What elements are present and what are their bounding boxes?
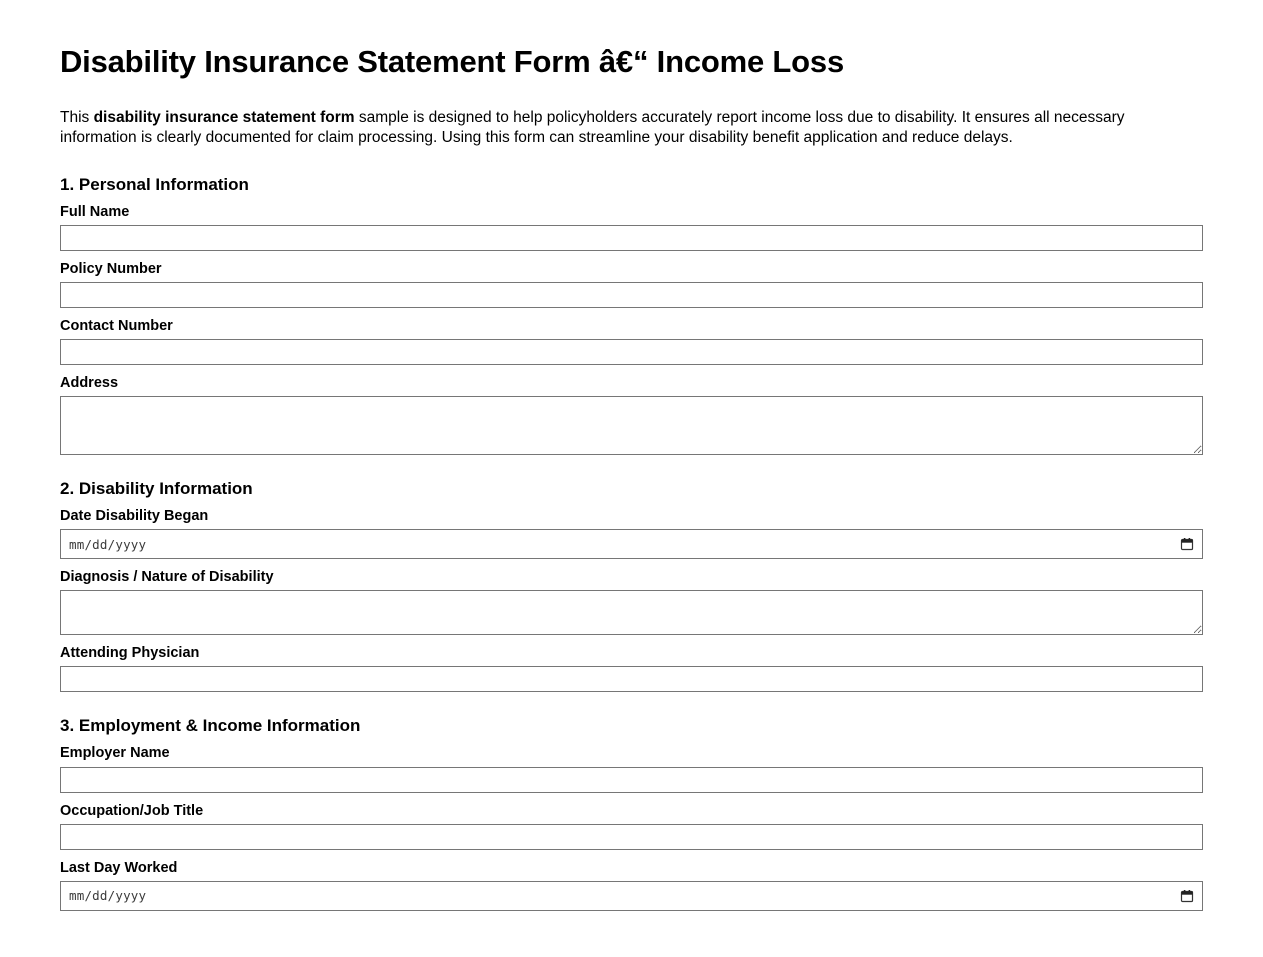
calendar-icon[interactable] bbox=[1180, 889, 1194, 903]
input-attending-physician[interactable] bbox=[60, 666, 1203, 692]
input-contact-number[interactable] bbox=[60, 339, 1203, 365]
intro-bold-term: disability insurance statement form bbox=[94, 109, 355, 126]
field-employer-name: Employer Name bbox=[60, 744, 1203, 792]
input-date-disability-began[interactable]: mm/dd/yyyy bbox=[60, 529, 1203, 559]
date-placeholder-began: mm/dd/yyyy bbox=[61, 537, 146, 552]
input-occupation-job-title[interactable] bbox=[60, 824, 1203, 850]
label-policy-number: Policy Number bbox=[60, 260, 1203, 278]
label-diagnosis: Diagnosis / Nature of Disability bbox=[60, 568, 1203, 586]
section-disability-information: 2. Disability Information Date Disabilit… bbox=[60, 479, 1203, 692]
section-heading-3: 3. Employment & Income Information bbox=[60, 716, 1203, 736]
calendar-icon[interactable] bbox=[1180, 537, 1194, 551]
label-employer-name: Employer Name bbox=[60, 744, 1203, 762]
section-personal-information: 1. Personal Information Full Name Policy… bbox=[60, 175, 1203, 456]
field-attending-physician: Attending Physician bbox=[60, 644, 1203, 692]
section-heading-1: 1. Personal Information bbox=[60, 175, 1203, 195]
field-address: Address bbox=[60, 374, 1203, 455]
date-placeholder-last-day: mm/dd/yyyy bbox=[61, 888, 146, 903]
label-contact-number: Contact Number bbox=[60, 317, 1203, 335]
section-heading-2: 2. Disability Information bbox=[60, 479, 1203, 499]
field-diagnosis: Diagnosis / Nature of Disability bbox=[60, 568, 1203, 635]
field-occupation-job-title: Occupation/Job Title bbox=[60, 802, 1203, 850]
field-full-name: Full Name bbox=[60, 203, 1203, 251]
textarea-address[interactable] bbox=[60, 396, 1203, 455]
input-last-day-worked[interactable]: mm/dd/yyyy bbox=[60, 881, 1203, 911]
field-last-day-worked: Last Day Worked mm/dd/yyyy bbox=[60, 859, 1203, 911]
label-attending-physician: Attending Physician bbox=[60, 644, 1203, 662]
page-title: Disability Insurance Statement Form â€“ … bbox=[60, 44, 1203, 80]
field-date-disability-began: Date Disability Began mm/dd/yyyy bbox=[60, 507, 1203, 559]
label-date-disability-began: Date Disability Began bbox=[60, 507, 1203, 525]
label-full-name: Full Name bbox=[60, 203, 1203, 221]
input-employer-name[interactable] bbox=[60, 767, 1203, 793]
label-occupation-job-title: Occupation/Job Title bbox=[60, 802, 1203, 820]
label-last-day-worked: Last Day Worked bbox=[60, 859, 1203, 877]
textarea-diagnosis[interactable] bbox=[60, 590, 1203, 635]
input-full-name[interactable] bbox=[60, 225, 1203, 251]
field-contact-number: Contact Number bbox=[60, 317, 1203, 365]
intro-prefix: This bbox=[60, 109, 94, 126]
field-policy-number: Policy Number bbox=[60, 260, 1203, 308]
section-employment-income-information: 3. Employment & Income Information Emplo… bbox=[60, 716, 1203, 910]
label-address: Address bbox=[60, 374, 1203, 392]
intro-paragraph: This disability insurance statement form… bbox=[60, 108, 1164, 149]
input-policy-number[interactable] bbox=[60, 282, 1203, 308]
form-page: Disability Insurance Statement Form â€“ … bbox=[0, 0, 1263, 911]
